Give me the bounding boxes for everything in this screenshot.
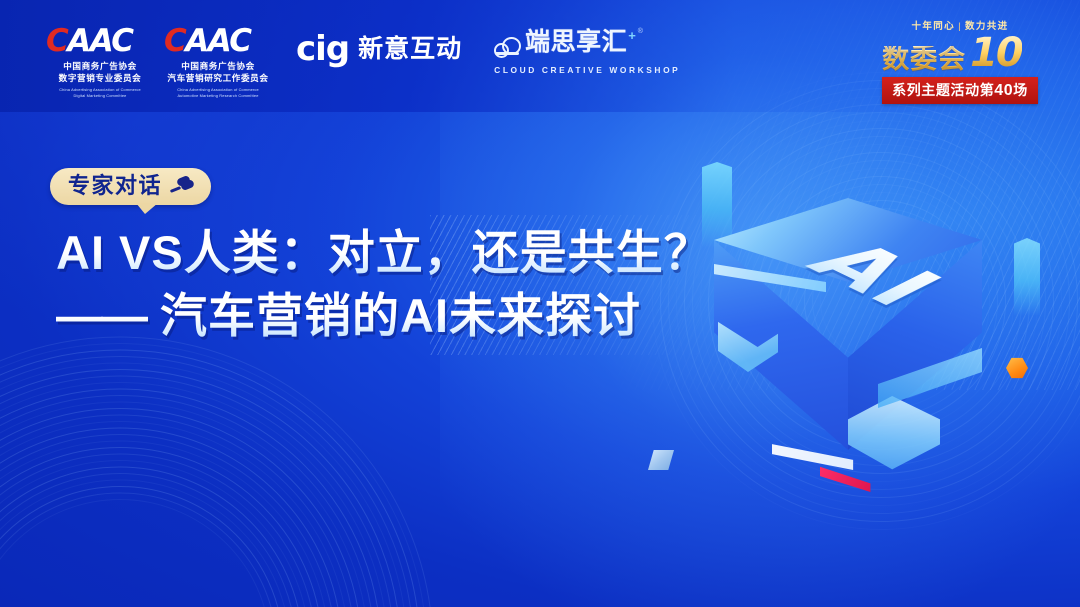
expert-dialogue-badge: 专家对话: [50, 168, 211, 205]
poster-header: CAAC 中国商务广告协会 数字营销专业委员会 China Advertisin…: [0, 0, 1080, 112]
caac-wordmark: CAAC: [46, 26, 154, 57]
cyan-pillar-right-icon: [1014, 238, 1040, 316]
small-chip-icon: [648, 450, 674, 470]
headline-subtitle: 汽车营销的AI未来探讨: [146, 289, 641, 342]
anniversary-name: 数委会: [882, 46, 966, 73]
series-banner: 系列主题活动第40场: [882, 77, 1038, 104]
caac-cn-line2: 数字营销专业委员会: [46, 73, 154, 85]
caac-wordmark-2: CAAC: [164, 26, 272, 57]
caac-en-text-2: China Advertising Association of Commerc…: [164, 87, 272, 99]
anniversary-tagline-left: 十年同心: [911, 21, 955, 32]
headline-dash: ——: [56, 289, 146, 342]
poster-headline: AI VS人类：对立，还是共生？ —— 汽车营销的AI未来探讨: [56, 222, 716, 346]
speech-bubble-tail: [136, 203, 158, 214]
anniversary-tagline: 十年同心|数力共进: [862, 18, 1058, 32]
caac-letters-aac-2: AAC: [185, 23, 250, 59]
orange-hexagon-icon: [1006, 357, 1028, 379]
anniversary-tagline-separator: |: [958, 21, 962, 32]
caac-letter-c: C: [46, 23, 67, 59]
series-banner-number: 40: [994, 82, 1013, 99]
caac-cn-line1-2: 中国商务广告协会: [164, 61, 272, 73]
ai-cube-illustration: AI: [640, 150, 1080, 550]
cloud-icon-base: [495, 52, 519, 55]
cloud-cn-name: 端思享汇: [525, 30, 627, 55]
caac-cn-line1: 中国商务广告协会: [46, 61, 154, 73]
logo-caac-digital-marketing: CAAC 中国商务广告协会 数字营销专业委员会 China Advertisin…: [46, 26, 154, 98]
cig-wordmark: cig: [296, 32, 349, 66]
cloud-plus-mark: +: [628, 28, 636, 43]
caac-cn-line2-2: 汽车营销研究工作委员会: [164, 73, 272, 85]
ai-cube: AI: [698, 198, 998, 498]
series-banner-suffix: 场: [1013, 82, 1028, 98]
headline-line-1: AI VS人类：对立，还是共生？: [56, 222, 716, 283]
caac-cn-text: 中国商务广告协会 数字营销专业委员会: [46, 61, 154, 85]
registered-mark: ®: [638, 28, 643, 35]
cloud-logo-row: 端思享汇 + ®: [494, 30, 680, 59]
partner-logos: CAAC 中国商务广告协会 数字营销专业委员会 China Advertisin…: [46, 26, 680, 98]
logo-cloud-creative-workshop: 端思享汇 + ® CLOUD CREATIVE WORKSHOP: [494, 26, 680, 75]
event-poster: CAAC 中国商务广告协会 数字营销专业委员会 China Advertisin…: [0, 0, 1080, 607]
caac-letters-aac: AAC: [67, 23, 132, 59]
cloud-en-tagline: CLOUD CREATIVE WORKSHOP: [494, 65, 680, 75]
expert-dialogue-badge-wrap: 专家对话: [50, 168, 211, 205]
microphone-icon-stem: [170, 186, 181, 193]
caac-letter-c-2: C: [164, 23, 185, 59]
caac-en-line1-2: China Advertising Association of Commerc…: [164, 87, 272, 93]
logo-caac-automotive-marketing: CAAC 中国商务广告协会 汽车营销研究工作委员会 China Advertis…: [164, 26, 272, 98]
anniversary-lockup: 十年同心|数力共进 数委会 10 th 系列主题活动第40场: [862, 18, 1058, 104]
microphone-icon: [169, 176, 195, 196]
caac-en-line1: China Advertising Association of Commerc…: [46, 87, 154, 93]
cloud-icon: [494, 35, 522, 59]
series-banner-text: 系列主题活动第: [892, 82, 994, 98]
caac-en-line2-2: Automotive Marketing Research Committee: [164, 93, 272, 99]
anniversary-main: 数委会 10 th: [862, 33, 1058, 73]
caac-en-line2: Digital Marketing Committee: [46, 93, 154, 99]
caac-en-text: China Advertising Association of Commerc…: [46, 87, 154, 99]
logo-cig: cig 新意互动: [296, 26, 462, 66]
anniversary-number: 10: [970, 33, 1022, 73]
expert-dialogue-label: 专家对话: [68, 175, 162, 197]
cig-cn-name: 新意互动: [358, 37, 462, 62]
headline-line-2: —— 汽车营销的AI未来探讨: [56, 285, 716, 346]
caac-cn-text-2: 中国商务广告协会 汽车营销研究工作委员会: [164, 61, 272, 85]
anniversary-ordinal: th: [1024, 55, 1038, 70]
